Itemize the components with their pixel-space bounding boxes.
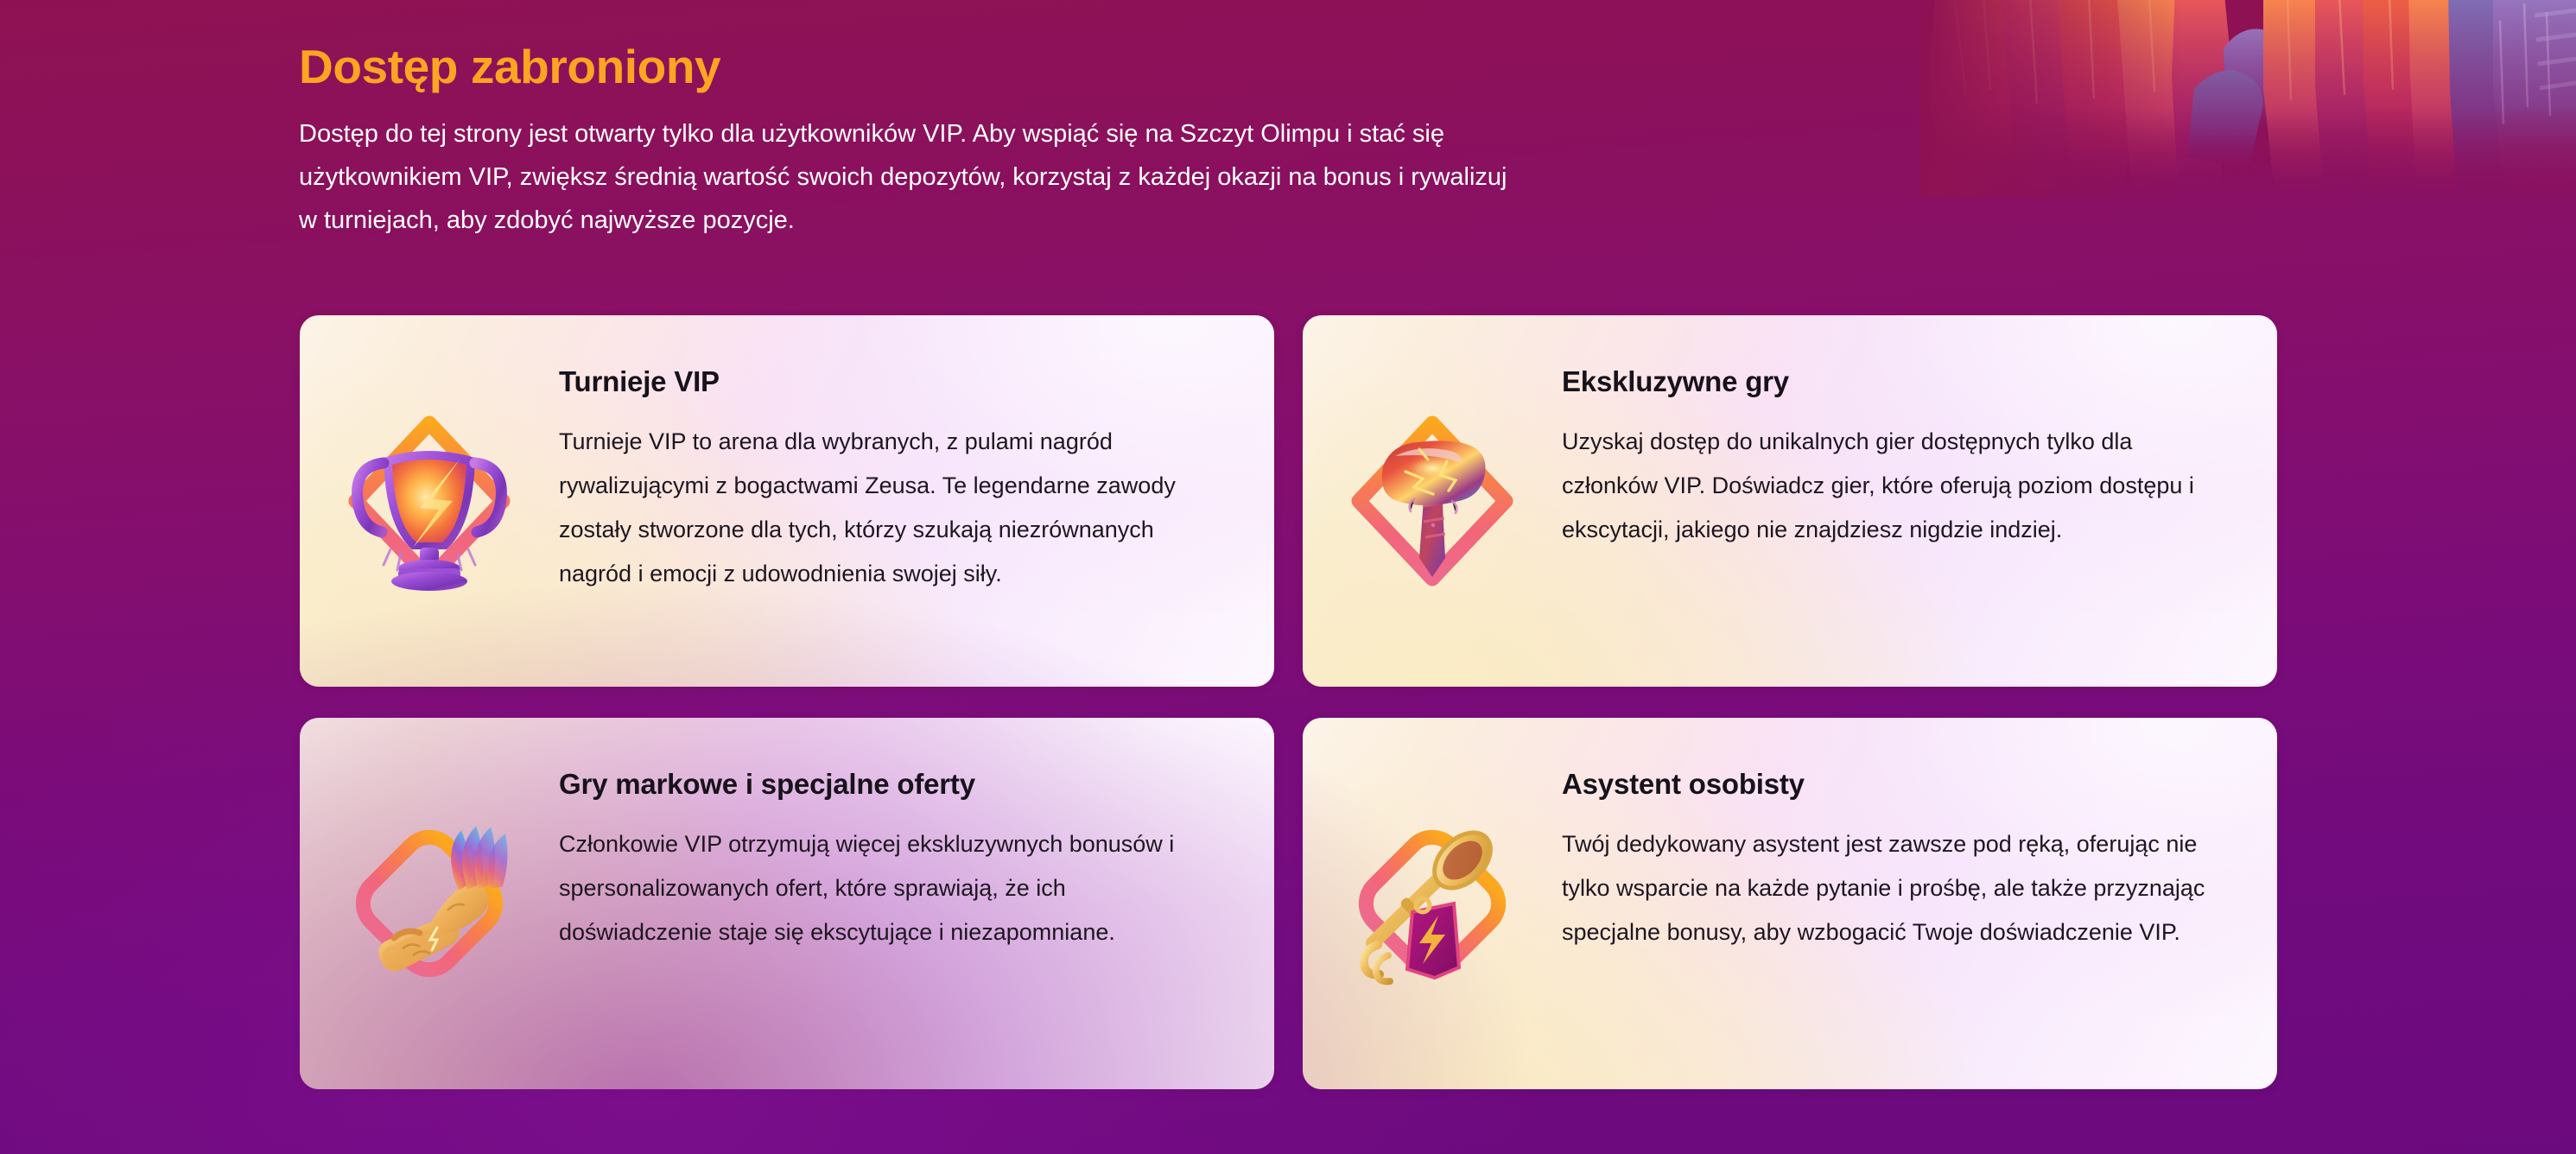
- card-description: Członkowie VIP otrzymują więcej ekskluzy…: [559, 822, 1198, 954]
- benefit-card-personal-assistant[interactable]: Asystent osobisty Twój dedykowany asyste…: [1303, 718, 2277, 1089]
- card-title: Gry markowe i specjalne oferty: [559, 766, 1222, 802]
- trumpet-icon: [1303, 718, 1562, 1089]
- benefit-card-tournaments[interactable]: Turnieje VIP Turnieje VIP to arena dla w…: [300, 315, 1274, 687]
- intro-paragraph: Dostęp do tej strony jest otwarty tylko …: [299, 113, 1526, 243]
- benefit-card-exclusive-games[interactable]: Ekskluzywne gry Uzyskaj dostęp do unikal…: [1303, 315, 2277, 687]
- page-title: Dostęp zabroniony: [299, 40, 1551, 94]
- intro-block: Dostęp zabroniony Dostęp do tej strony j…: [299, 40, 1551, 243]
- card-body: Turnieje VIP Turnieje VIP to arena dla w…: [559, 315, 1274, 630]
- card-description: Twój dedykowany asystent jest zawsze pod…: [1562, 822, 2225, 954]
- card-description: Uzyskaj dostęp do unikalnych gier dostęp…: [1562, 420, 2225, 551]
- benefit-card-grid: Turnieje VIP Turnieje VIP to arena dla w…: [300, 315, 2278, 1089]
- benefit-card-branded-games[interactable]: Gry markowe i specjalne oferty Członkowi…: [300, 718, 1274, 1089]
- card-body: Ekskluzywne gry Uzyskaj dostęp do unikal…: [1562, 315, 2277, 587]
- page-background: Dostęp zabroniony Dostęp do tej strony j…: [0, 0, 2576, 1154]
- card-title: Ekskluzywne gry: [1562, 364, 2225, 399]
- card-title: Turnieje VIP: [559, 364, 1222, 399]
- card-body: Gry markowe i specjalne oferty Członkowi…: [559, 718, 1274, 989]
- winged-sandal-icon: [300, 718, 559, 1089]
- page-content: Dostęp zabroniony Dostęp do tej strony j…: [0, 0, 2576, 1154]
- trophy-icon: [300, 315, 559, 687]
- hammer-icon: [1303, 315, 1562, 687]
- card-description: Turnieje VIP to arena dla wybranych, z p…: [559, 420, 1198, 595]
- card-title: Asystent osobisty: [1562, 766, 2225, 802]
- card-body: Asystent osobisty Twój dedykowany asyste…: [1562, 718, 2277, 989]
